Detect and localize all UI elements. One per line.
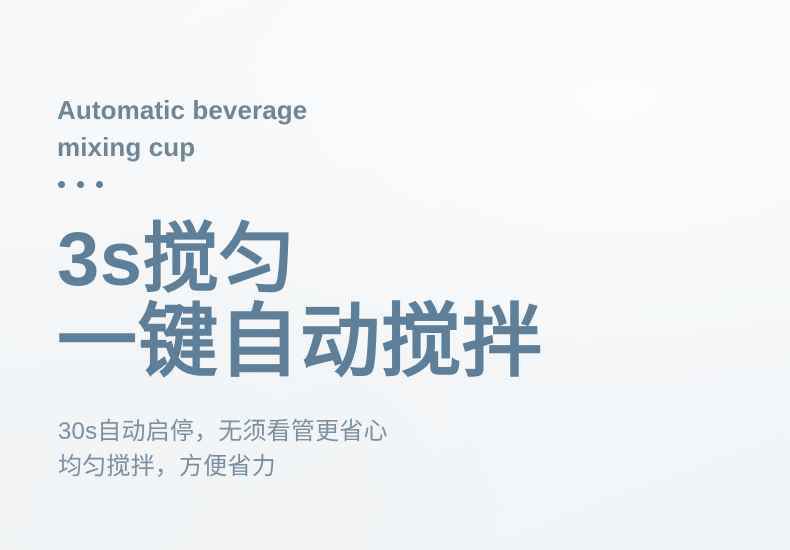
banner-content: Automatic beverage mixing cup 3s搅匀 一键自动搅… — [57, 0, 757, 550]
dot-1-icon — [58, 181, 65, 188]
headline-line-1: 3s搅匀 — [57, 222, 296, 298]
supporting-copy: 30s自动启停，无须看管更省心 均匀搅拌，方便省力 — [58, 414, 388, 484]
dot-3-icon — [96, 181, 103, 188]
headline-line-2: 一键自动搅拌 — [57, 302, 543, 382]
product-eyebrow-heading: Automatic beverage mixing cup — [57, 92, 477, 166]
promo-banner: Automatic beverage mixing cup 3s搅匀 一键自动搅… — [0, 0, 790, 550]
dot-separator — [58, 181, 103, 188]
supporting-copy-line-2: 均匀搅拌，方便省力 — [58, 449, 388, 484]
dot-2-icon — [77, 181, 84, 188]
supporting-copy-line-1: 30s自动启停，无须看管更省心 — [58, 414, 388, 449]
